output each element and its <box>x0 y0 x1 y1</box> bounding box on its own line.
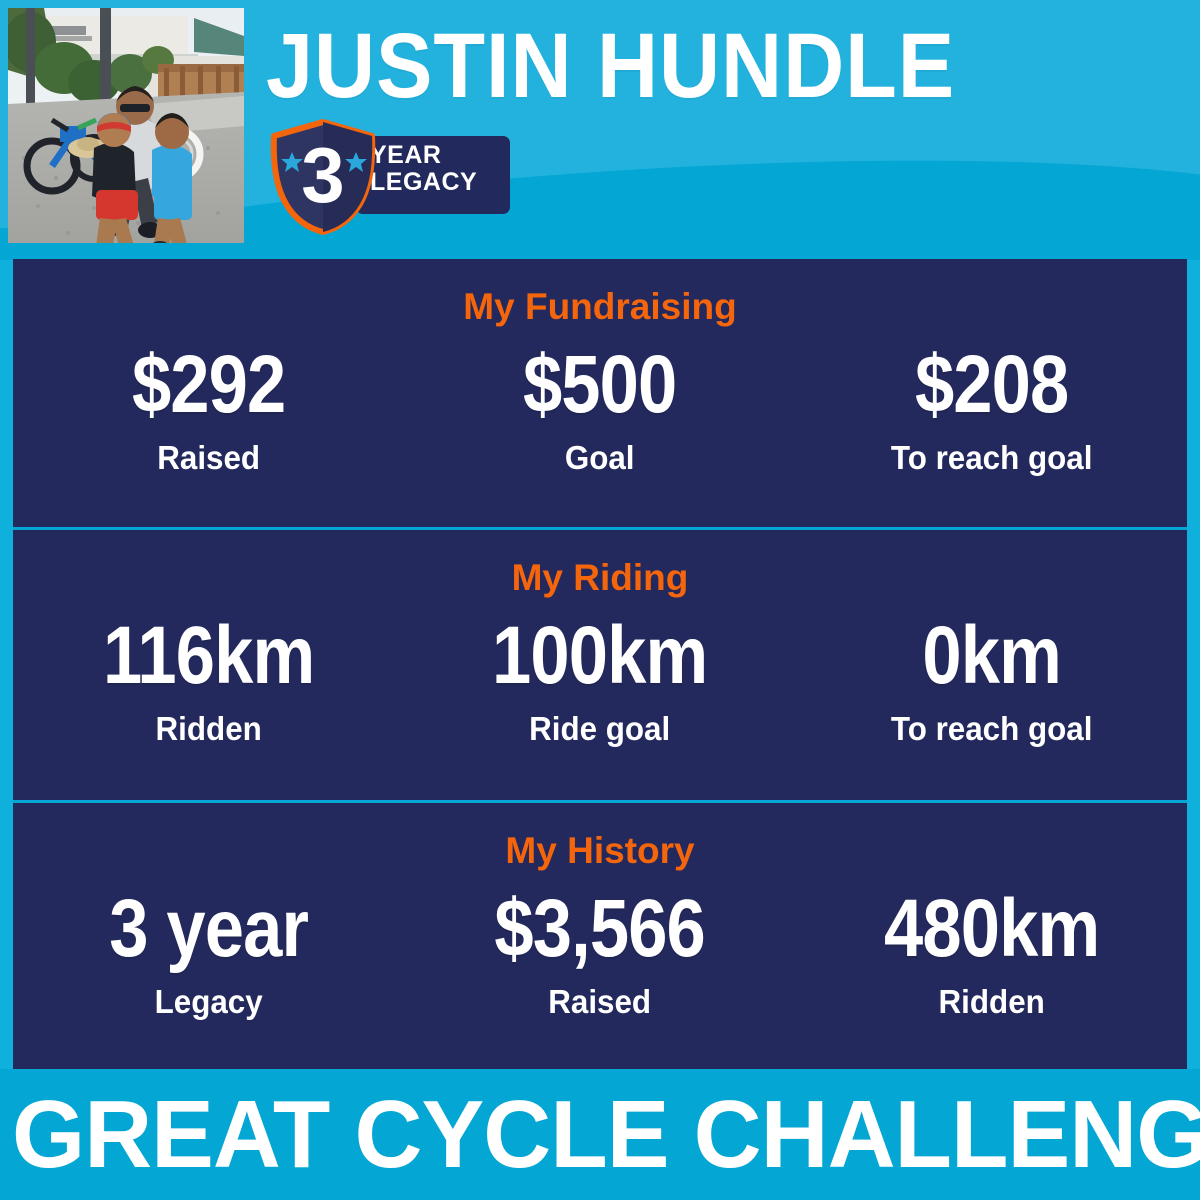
stat-value: 3 year <box>40 881 377 977</box>
stat-label: Raised <box>414 983 786 1021</box>
legacy-years-value: 3 <box>301 131 344 219</box>
stat-value: $3,566 <box>432 881 769 977</box>
section-history: My History 3 year Legacy $3,566 Raised 4… <box>13 803 1187 1069</box>
stat-goal: $500 Goal <box>404 337 795 517</box>
stat-to-reach-goal: $208 To reach goal <box>796 337 1187 517</box>
stat-label: To reach goal <box>805 710 1177 748</box>
stat-label: Raised <box>23 439 395 477</box>
stat-total-ridden: 480km Ridden <box>796 881 1187 1061</box>
stat-label: Ridden <box>805 983 1177 1021</box>
shield-icon: 3 <box>264 118 382 236</box>
brand-wordmark: GREAT CYCLE CHALLENGE <box>12 1083 1188 1187</box>
stat-label: To reach goal <box>805 439 1177 477</box>
stat-label: Legacy <box>23 983 395 1021</box>
stat-label: Ride goal <box>414 710 786 748</box>
stat-label: Ridden <box>23 710 395 748</box>
section-title-fundraising: My Fundraising <box>13 287 1187 327</box>
stats-panel: My Fundraising $292 Raised $500 Goal $20… <box>13 259 1187 1069</box>
stat-value: $292 <box>40 337 377 433</box>
section-fundraising: My Fundraising $292 Raised $500 Goal $20… <box>13 259 1187 527</box>
stats-row-riding: 116km Ridden 100km Ride goal 0km To reac… <box>13 608 1187 788</box>
header: JUSTIN HUNDLE YEAR LEGACY 3 <box>0 0 1200 260</box>
stat-value: $500 <box>432 337 769 433</box>
stat-label: Goal <box>414 439 786 477</box>
stat-raised: $292 Raised <box>13 337 404 517</box>
stat-value: 116km <box>40 608 377 704</box>
stat-ride-goal: 100km Ride goal <box>404 608 795 788</box>
section-title-riding: My Riding <box>13 558 1187 598</box>
page-title: JUSTIN HUNDLE <box>266 14 1112 118</box>
legacy-badge-line2: LEGACY <box>370 169 510 196</box>
fundraiser-poster: JUSTIN HUNDLE YEAR LEGACY 3 My Fundraisi… <box>0 0 1200 1200</box>
stat-total-raised: $3,566 Raised <box>404 881 795 1061</box>
stat-km-to-reach-goal: 0km To reach goal <box>796 608 1187 788</box>
stats-row-history: 3 year Legacy $3,566 Raised 480km Ridden <box>13 881 1187 1061</box>
legacy-badge-line1: YEAR <box>370 142 510 169</box>
stat-value: 480km <box>823 881 1160 977</box>
section-title-history: My History <box>13 831 1187 871</box>
stats-row-fundraising: $292 Raised $500 Goal $208 To reach goal <box>13 337 1187 517</box>
stat-value: 100km <box>432 608 769 704</box>
avatar <box>8 8 244 243</box>
section-riding: My Riding 116km Ridden 100km Ride goal 0… <box>13 530 1187 800</box>
legacy-badge: YEAR LEGACY 3 <box>264 118 510 236</box>
legacy-badge-text: YEAR LEGACY <box>370 142 510 196</box>
stat-ridden: 116km Ridden <box>13 608 404 788</box>
stat-value: 0km <box>823 608 1160 704</box>
footer: GREAT CYCLE CHALLENGE <box>0 1069 1200 1200</box>
stat-value: $208 <box>823 337 1160 433</box>
stat-legacy: 3 year Legacy <box>13 881 404 1061</box>
